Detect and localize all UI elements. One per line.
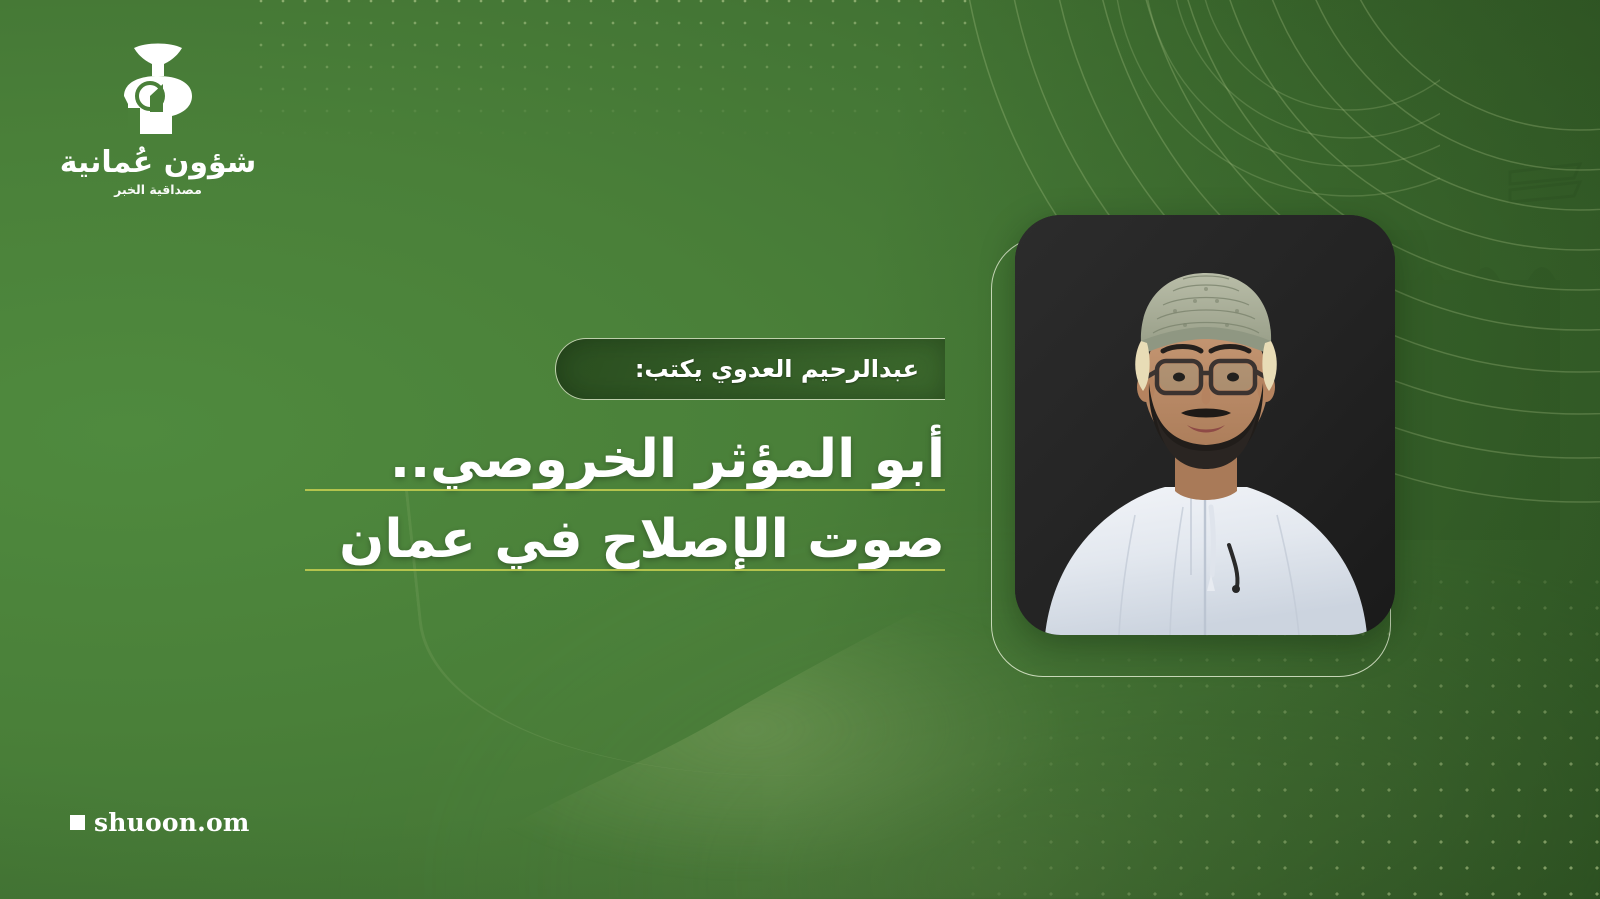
brand-logo[interactable]: شؤون عُمانية مصداقية الخبر — [58, 42, 258, 197]
site-url-text: shuoon.om — [94, 808, 250, 837]
headline: أبو المؤثر الخروصي.. صوت الإصلاح في عمان — [305, 425, 945, 577]
dot-grid-top-icon — [250, 0, 970, 140]
brand-name: شؤون عُمانية — [58, 146, 258, 181]
site-url-block[interactable]: shuoon.om — [70, 808, 250, 837]
portrait-photo-frame — [1015, 215, 1395, 635]
author-portrait — [1003, 215, 1403, 655]
author-portrait-photo — [1015, 215, 1395, 635]
headline-line-1: أبو المؤثر الخروصي.. — [305, 425, 945, 497]
author-byline-pill: عبدالرحيم العدوي يكتب: — [555, 338, 945, 400]
social-media-card: شؤون عُمانية مصداقية الخبر عبدالرحيم الع… — [0, 0, 1600, 899]
headline-line-2: صوت الإصلاح في عمان — [305, 505, 945, 577]
brand-tagline: مصداقية الخبر — [58, 182, 258, 197]
square-bullet-icon — [70, 815, 85, 830]
incense-burner-mabkhara-icon — [58, 42, 258, 140]
author-byline-text: عبدالرحيم العدوي يكتب: — [635, 355, 919, 383]
